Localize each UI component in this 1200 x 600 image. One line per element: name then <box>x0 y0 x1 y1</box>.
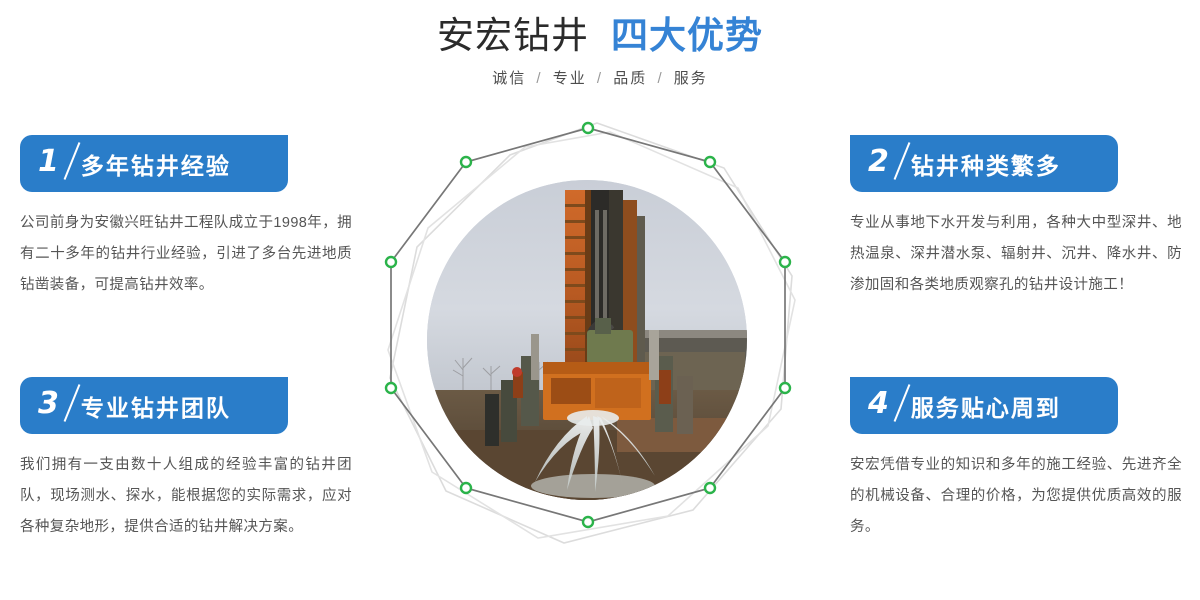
feature-card-2: 2 钻井种类繁多 专业从事地下水开发与利用，各种大中型深井、地热温泉、深井潜水泵… <box>850 135 1190 301</box>
subtitle-separator: / <box>657 70 663 87</box>
feature-body-3: 我们拥有一支由数十人组成的经验丰富的钻井团队，现场测水、探水，能根据您的实际需求… <box>20 450 352 543</box>
feature-banner-2[interactable]: 2 钻井种类繁多 <box>850 135 1118 192</box>
subtitle-separator: / <box>536 70 542 87</box>
page-title: 安宏钻井四大优势 <box>0 12 1200 60</box>
subtitle-item-0: 诚信 <box>492 70 526 87</box>
vertex-node-icon <box>780 383 790 393</box>
center-graphic <box>370 110 830 590</box>
feature-body-1: 公司前身为安徽兴旺钻井工程队成立于1998年，拥有二十多年的钻井行业经验，引进了… <box>20 208 352 301</box>
feature-banner-3[interactable]: 3 专业钻井团队 <box>20 377 288 434</box>
vertex-node-icon <box>386 383 396 393</box>
center-photo <box>427 180 747 500</box>
vertex-node-icon <box>583 123 593 133</box>
features-column-left: 1 多年钻井经验 公司前身为安徽兴旺钻井工程队成立于1998年，拥有二十多年的钻… <box>20 135 360 543</box>
feature-banner-4[interactable]: 4 服务贴心周到 <box>850 377 1118 434</box>
title-company: 安宏钻井 <box>437 15 589 56</box>
vertex-node-icon <box>705 157 715 167</box>
page-subtitle: 诚信 / 专业 / 品质 / 服务 <box>0 69 1200 89</box>
feature-title-1: 多年钻井经验 <box>81 147 231 181</box>
subtitle-separator: / <box>597 70 603 87</box>
feature-title-3: 专业钻井团队 <box>81 389 231 423</box>
title-accent: 四大优势 <box>611 15 763 56</box>
feature-number-1: 1 <box>38 147 75 177</box>
feature-title-4: 服务贴心周到 <box>911 389 1061 423</box>
vertex-node-icon <box>386 257 396 267</box>
feature-body-2: 专业从事地下水开发与利用，各种大中型深井、地热温泉、深井潜水泵、辐射井、沉井、降… <box>850 208 1182 301</box>
feature-number-2: 2 <box>868 147 905 177</box>
feature-card-4: 4 服务贴心周到 安宏凭借专业的知识和多年的施工经验、先进齐全的机械设备、合理的… <box>850 377 1190 543</box>
vertex-node-icon <box>780 257 790 267</box>
feature-banner-1[interactable]: 1 多年钻井经验 <box>20 135 288 192</box>
advantages-page: 安宏钻井四大优势 诚信 / 专业 / 品质 / 服务 <box>0 0 1200 600</box>
feature-title-2: 钻井种类繁多 <box>911 147 1061 181</box>
feature-body-4: 安宏凭借专业的知识和多年的施工经验、先进齐全的机械设备、合理的价格，为您提供优质… <box>850 450 1182 543</box>
subtitle-item-1: 专业 <box>553 70 587 87</box>
feature-card-1: 1 多年钻井经验 公司前身为安徽兴旺钻井工程队成立于1998年，拥有二十多年的钻… <box>20 135 360 301</box>
feature-number-4: 4 <box>868 389 905 419</box>
features-column-right: 2 钻井种类繁多 专业从事地下水开发与利用，各种大中型深井、地热温泉、深井潜水泵… <box>850 135 1190 543</box>
subtitle-item-3: 服务 <box>674 70 708 87</box>
vertex-node-icon <box>461 157 471 167</box>
drilling-rig-photo <box>427 180 747 500</box>
vertex-node-icon <box>583 517 593 527</box>
subtitle-item-2: 品质 <box>613 70 647 87</box>
feature-number-3: 3 <box>38 389 75 419</box>
feature-card-3: 3 专业钻井团队 我们拥有一支由数十人组成的经验丰富的钻井团队，现场测水、探水，… <box>20 377 360 543</box>
page-header: 安宏钻井四大优势 诚信 / 专业 / 品质 / 服务 <box>0 0 1200 110</box>
